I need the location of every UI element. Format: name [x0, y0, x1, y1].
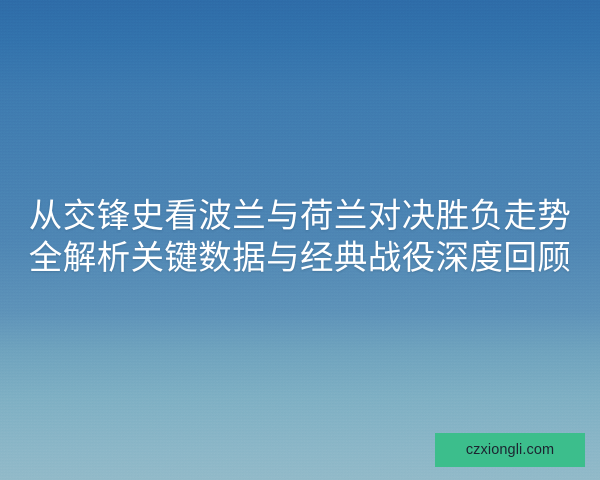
article-cover-image: 从交锋史看波兰与荷兰对决胜负走势全解析关键数据与经典战役深度回顾 czxiong… — [0, 0, 600, 480]
cover-headline: 从交锋史看波兰与荷兰对决胜负走势全解析关键数据与经典战役深度回顾 — [0, 196, 600, 280]
watermark-badge: czxiongli.com — [435, 433, 585, 467]
watermark-url-text: czxiongli.com — [466, 443, 554, 458]
